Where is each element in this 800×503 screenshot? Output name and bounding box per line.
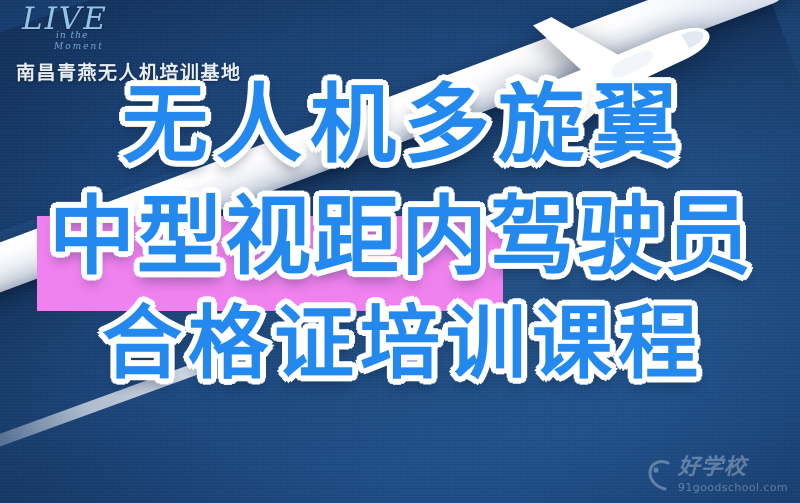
watermark-text: 好学校 91goodschool.com [678,457,788,493]
brand-logo: LIVE in the Moment 南昌青燕无人机培训基地 [16,4,256,85]
course-banner: LIVE in the Moment 南昌青燕无人机培训基地 无人机多旋翼 中型… [0,0,800,503]
watermark: 好学校 91goodschool.com [647,457,788,493]
brand-script-sub-1: in the [16,31,256,41]
watermark-url: 91goodschool.com [678,482,788,493]
headline-line-3: 合格证培训课程 [0,304,800,384]
brand-script-sub-2: Moment [16,42,256,52]
headline-line-1: 无人机多旋翼 [0,82,800,168]
good-school-logo-icon [647,458,673,492]
headline-block: 无人机多旋翼 中型视距内驾驶员 合格证培训课程 [0,82,800,384]
headline-line-2: 中型视距内驾驶员 [0,194,800,280]
watermark-name-cn: 好学校 [678,457,788,479]
